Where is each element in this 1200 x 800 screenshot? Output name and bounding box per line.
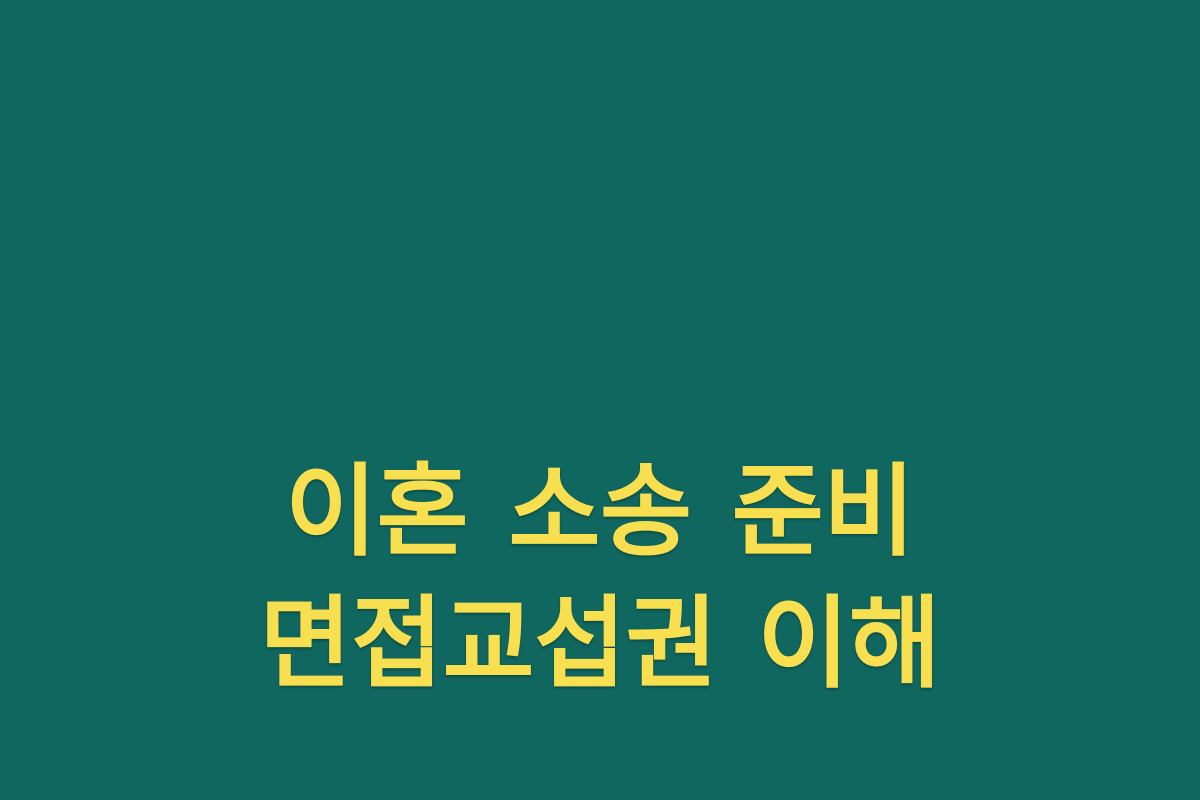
banner-canvas: 이혼 소송 준비 면접교섭권 이해: [0, 0, 1200, 800]
banner-headline: 이혼 소송 준비 면접교섭권 이해: [85, 446, 1115, 710]
headline-block: 이혼 소송 준비 면접교섭권 이해: [85, 446, 1115, 710]
